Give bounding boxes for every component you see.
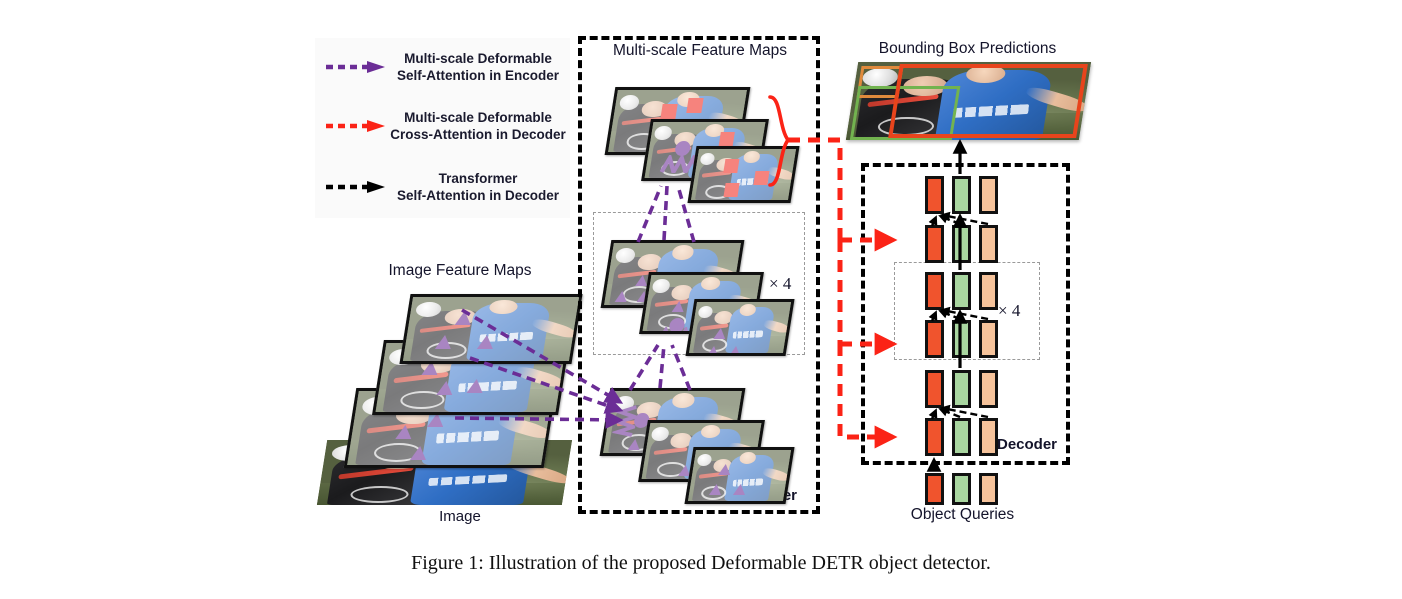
sampling-point-marker: [435, 335, 453, 349]
sampling-point-marker: [477, 335, 495, 349]
encoder-middle-map-level-3: [685, 299, 794, 356]
legend-panel: Multi-scale DeformableSelf-Attention in …: [315, 38, 570, 218]
query-box-green[interactable]: [952, 370, 971, 408]
sampling-point-marker: [427, 413, 445, 427]
sampling-point-marker: [713, 328, 727, 339]
multiscale-feature-map-level-3: [687, 146, 799, 203]
object-query-green[interactable]: [952, 473, 971, 505]
sampling-point-marker: [706, 346, 720, 356]
reference-point-square: [719, 132, 735, 146]
query-box-orange[interactable]: [925, 272, 944, 310]
sampling-point-marker: [615, 291, 629, 302]
image-label: Image: [330, 508, 590, 525]
object-query-peach[interactable]: [979, 473, 998, 505]
query-box-peach[interactable]: [979, 320, 998, 358]
query-box-orange[interactable]: [925, 320, 944, 358]
figure-caption: Figure 1: Illustration of the proposed D…: [0, 552, 1402, 575]
encoder-input-map-level-3: [684, 447, 794, 504]
query-box-orange[interactable]: [925, 225, 944, 263]
decoder-repeat-count: × 4: [998, 301, 1020, 321]
query-box-peach[interactable]: [979, 176, 998, 214]
sampling-offsets-zigzag: [612, 405, 639, 437]
sampling-point-marker: [733, 484, 747, 495]
query-box-peach[interactable]: [979, 370, 998, 408]
legend-item-decoder-self-attention: TransformerSelf-Attention in Decoder: [315, 164, 570, 210]
sampling-point-marker: [395, 425, 413, 439]
sampling-point-marker: [410, 446, 428, 460]
encoder-repeat-count: × 4: [769, 274, 791, 294]
query-box-green[interactable]: [952, 225, 971, 263]
query-box-green[interactable]: [952, 320, 971, 358]
sampling-point-marker: [436, 381, 454, 395]
purple-dashed-arrow-icon: [325, 60, 387, 74]
object-query-orange[interactable]: [925, 473, 944, 505]
query-box-green[interactable]: [952, 272, 971, 310]
reference-point-square: [753, 171, 769, 185]
sampling-point-marker: [728, 346, 742, 356]
reference-point-square: [723, 183, 739, 197]
query-box-green[interactable]: [952, 176, 971, 214]
sampling-point-marker: [467, 379, 485, 393]
reference-point-square: [686, 98, 703, 113]
sampling-point-marker: [718, 464, 732, 475]
bbox-large-player: [888, 64, 1088, 138]
query-box-orange[interactable]: [925, 176, 944, 214]
query-box-peach[interactable]: [979, 418, 998, 456]
red-dashed-arrow-icon: [325, 119, 387, 133]
sampling-point-marker: [672, 301, 686, 312]
query-box-orange[interactable]: [925, 370, 944, 408]
sampling-point-marker: [709, 484, 723, 495]
sampling-point-marker: [628, 439, 642, 450]
legend-label-encoder-self-attention: Multi-scale DeformableSelf-Attention in …: [389, 50, 567, 84]
reference-point-square: [723, 159, 739, 173]
reference-point-square: [660, 104, 677, 119]
sampling-point-marker: [455, 311, 473, 325]
query-box-peach[interactable]: [979, 272, 998, 310]
image-feature-maps-title: Image Feature Maps: [330, 262, 590, 280]
legend-label-decoder-self-attention: TransformerSelf-Attention in Decoder: [389, 170, 567, 204]
query-box-peach[interactable]: [979, 225, 998, 263]
query-reference-point: [668, 318, 685, 333]
query-box-orange[interactable]: [925, 418, 944, 456]
figure-canvas: Multi-scale DeformableSelf-Attention in …: [0, 0, 1402, 599]
bounding-box-predictions-title: Bounding Box Predictions: [845, 40, 1090, 58]
legend-item-encoder-self-attention: Multi-scale DeformableSelf-Attention in …: [315, 44, 570, 90]
query-box-green[interactable]: [952, 418, 971, 456]
decoder-label: Decoder: [997, 436, 1057, 453]
black-dashed-arrow-icon: [325, 180, 387, 194]
bounding-box-predictions-image: [846, 62, 1091, 140]
object-queries-label: Object Queries: [880, 506, 1045, 524]
image-feature-map-level-1: [399, 294, 582, 364]
query-reference-point: [674, 141, 691, 156]
legend-label-decoder-cross-attention: Multi-scale DeformableCross-Attention in…: [389, 109, 567, 143]
legend-item-decoder-cross-attention: Multi-scale DeformableCross-Attention in…: [315, 103, 570, 149]
